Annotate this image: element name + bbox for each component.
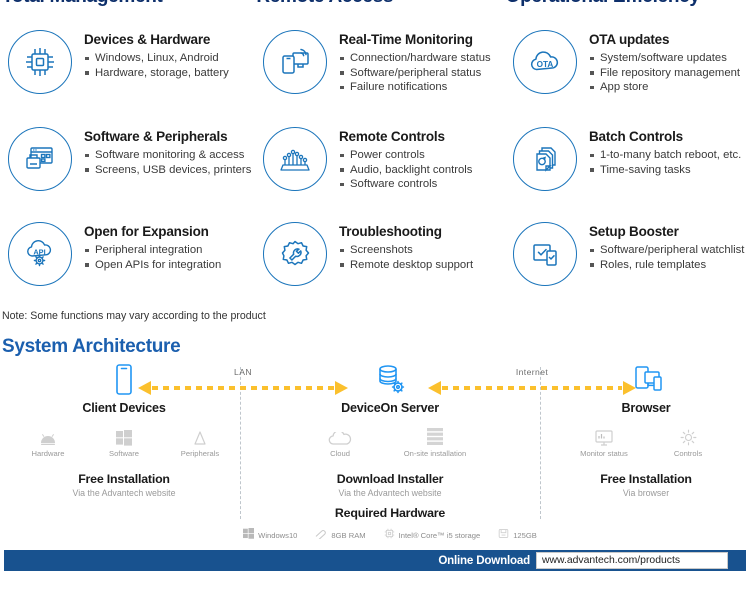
subicon-label: Software [86,449,162,458]
architecture-subicons: Cloud On-site installation [244,426,536,458]
subicon-peripherals: Peripherals [162,426,238,458]
feature-text: Open for Expansion Peripheral integratio… [84,220,221,272]
architecture-subicons: Hardware Software Peripherals [10,426,238,458]
feature-bullet: Hardware, storage, battery [84,66,229,81]
subicon-controls: Controls [646,426,730,458]
feature-title: Real-Time Monitoring [339,32,491,47]
feature-text: Real-Time Monitoring Connection/hardware… [339,28,491,95]
cpu-icon [384,526,395,544]
android-icon [10,426,86,446]
architecture-node-name: Client Devices [10,401,238,415]
feature-text: Remote Controls Power controls Audio, ba… [339,125,472,192]
subicon-label: On-site installation [385,449,485,458]
windows-icon [243,526,254,544]
feature-title: Software & Peripherals [84,129,251,144]
feature-title: Devices & Hardware [84,32,229,47]
feature-bullet: Software controls [339,177,472,192]
block-title: Free Installation [10,472,238,486]
feature-bullets: Peripheral integration Open APIs for int… [84,243,221,272]
hardware-item-windows10: Windows10 [243,526,297,544]
architecture-node-name: DeviceOn Server [244,401,536,415]
column-heading-remote-access: Remote Access [256,0,505,8]
feature-bullet: Failure notifications [339,80,491,95]
footer-label: Online Download [438,554,530,567]
real-time-monitoring-icon [263,30,327,94]
feature-bullets: System/software updates File repository … [589,51,740,95]
subicon-label: Monitor status [562,449,646,458]
architecture-block-free-installation: Free Installation Via browser [546,472,746,498]
product-note: Note: Some functions may vary according … [2,310,266,322]
feature-card-open-for-expansion: API Open for Expansion Peripheral integr… [0,220,255,316]
feature-title: Open for Expansion [84,224,221,239]
peripherals-icon [162,426,238,446]
checklist-devices-icon [513,222,577,286]
svg-text:OTA: OTA [537,60,554,69]
feature-title: Setup Booster [589,224,744,239]
feature-bullets: Windows, Linux, Android Hardware, storag… [84,51,229,80]
subicon-cloud: Cloud [295,426,385,458]
feature-grid: Devices & Hardware Windows, Linux, Andro… [0,28,750,316]
monitor-status-icon [562,426,646,446]
block-subtitle: Via browser [546,488,746,498]
hardware-item-label: 125GB [513,531,537,540]
subicon-label: Cloud [295,449,385,458]
feature-text: Troubleshooting Screenshots Remote deskt… [339,220,473,272]
feature-bullet: Remote desktop support [339,258,473,273]
feature-bullet: Software/peripheral status [339,66,491,81]
feature-bullet: Roles, rule templates [589,258,744,273]
hardware-item-label: Windows10 [258,531,297,540]
feature-bullets: Connection/hardware status Software/peri… [339,51,491,95]
database-gear-icon [244,362,536,398]
feature-bullet: System/software updates [589,51,740,66]
architecture-block-required-hardware: Required Hardware [244,506,536,520]
feature-text: Devices & Hardware Windows, Linux, Andro… [84,28,229,80]
architecture-block-download-installer: Download Installer Via the Advantech web… [244,472,536,498]
batch-stack-icon [513,127,577,191]
subicon-label: Peripherals [162,449,238,458]
chip-icon [8,30,72,94]
footer-url[interactable]: www.advantech.com/products [536,552,728,569]
software-peripherals-icon [8,127,72,191]
circuit-controls-icon [263,127,327,191]
cloud-icon [295,426,385,446]
feature-card-devices-hardware: Devices & Hardware Windows, Linux, Andro… [0,28,255,125]
feature-bullet: File repository management [589,66,740,81]
tablet-icon [10,362,238,398]
subicon-onsite-installation: On-site installation [385,426,485,458]
column-headings: Total Management Remote Access Operation… [0,0,750,8]
feature-title: Remote Controls [339,129,472,144]
architecture-node-name: Browser [546,401,746,415]
feature-bullets: Screenshots Remote desktop support [339,243,473,272]
architecture-subicons: Monitor status Controls [546,426,746,458]
feature-bullet: Software/peripheral watchlist [589,243,744,258]
feature-card-batch-controls: Batch Controls 1-to-many batch reboot, e… [505,125,750,220]
block-title: Required Hardware [244,506,536,520]
block-title: Free Installation [546,472,746,486]
subicon-label: Controls [646,449,730,458]
ram-icon [315,526,327,544]
system-architecture-title: System Architecture [2,336,180,358]
column-heading-total-management: Total Management [0,0,256,8]
feature-text: Setup Booster Software/peripheral watchl… [589,220,744,272]
feature-row: API Open for Expansion Peripheral integr… [0,220,750,316]
feature-text: Batch Controls 1-to-many batch reboot, e… [589,125,741,177]
feature-bullets: Software/peripheral watchlist Roles, rul… [589,243,744,272]
api-cloud-gear-icon: API [8,222,72,286]
hardware-item-storage: 125GB [498,526,537,544]
required-hardware-list: Windows10 8GB RAM Intel® Core™ i5 sto [244,526,536,544]
feature-card-setup-booster: Setup Booster Software/peripheral watchl… [505,220,750,316]
column-heading-operational-efficiency: Operational Efficiency [506,0,750,8]
feature-bullets: Power controls Audio, backlight controls… [339,148,472,192]
feature-title: Batch Controls [589,129,741,144]
subicon-software: Software [86,426,162,458]
feature-bullet: 1-to-many batch reboot, etc. [589,148,741,163]
feature-text: OTA updates System/software updates File… [589,28,740,95]
multi-device-icon [546,362,746,398]
feature-bullet: Software monitoring & access [84,148,251,163]
hardware-item-label: 8GB RAM [331,531,365,540]
feature-bullet: Audio, backlight controls [339,163,472,178]
feature-card-troubleshooting: Troubleshooting Screenshots Remote deskt… [255,220,505,316]
server-rack-icon [385,426,485,446]
feature-card-ota-updates: OTA OTA updates System/software updates … [505,28,750,125]
hardware-item-label: Intel® Core™ i5 storage [399,531,481,540]
architecture-node-deviceon-server: DeviceOn Server Cloud On-site installa [244,362,536,544]
feature-bullet: Windows, Linux, Android [84,51,229,66]
architecture-diagram: LAN Internet Client Devices [0,362,750,537]
feature-card-real-time-monitoring: Real-Time Monitoring Connection/hardware… [255,28,505,125]
feature-text: Software & Peripherals Software monitori… [84,125,251,177]
feature-bullet: Time-saving tasks [589,163,741,178]
feature-bullet: Peripheral integration [84,243,221,258]
architecture-node-browser: Browser Monitor status [546,362,746,498]
subicon-hardware: Hardware [10,426,86,458]
feature-bullet: Screenshots [339,243,473,258]
feature-card-software-peripherals: Software & Peripherals Software monitori… [0,125,255,220]
feature-title: OTA updates [589,32,740,47]
feature-bullets: Software monitoring & access Screens, US… [84,148,251,177]
disk-icon [498,526,509,544]
hardware-item-cpu: Intel® Core™ i5 storage [384,526,481,544]
subicon-label: Hardware [10,449,86,458]
feature-bullet: App store [589,80,740,95]
windows-icon [86,426,162,446]
block-title: Download Installer [244,472,536,486]
feature-bullet: Connection/hardware status [339,51,491,66]
architecture-block-free-installation: Free Installation Via the Advantech webs… [10,472,238,498]
block-subtitle: Via the Advantech website [244,488,536,498]
feature-bullet: Screens, USB devices, printers [84,163,251,178]
feature-row: Devices & Hardware Windows, Linux, Andro… [0,28,750,125]
controls-gear-icon [646,426,730,446]
feature-row: Software & Peripherals Software monitori… [0,125,750,220]
architecture-node-client-devices: Client Devices Hardware [10,362,238,498]
footer-bar: Online Download www.advantech.com/produc… [4,550,746,571]
block-subtitle: Via the Advantech website [10,488,238,498]
feature-bullet: Power controls [339,148,472,163]
feature-title: Troubleshooting [339,224,473,239]
subicon-monitor-status: Monitor status [562,426,646,458]
ota-cloud-icon: OTA [513,30,577,94]
gear-wrench-icon [263,222,327,286]
feature-bullet: Open APIs for integration [84,258,221,273]
feature-bullets: 1-to-many batch reboot, etc. Time-saving… [589,148,741,177]
feature-card-remote-controls: Remote Controls Power controls Audio, ba… [255,125,505,220]
hardware-item-ram: 8GB RAM [315,526,365,544]
